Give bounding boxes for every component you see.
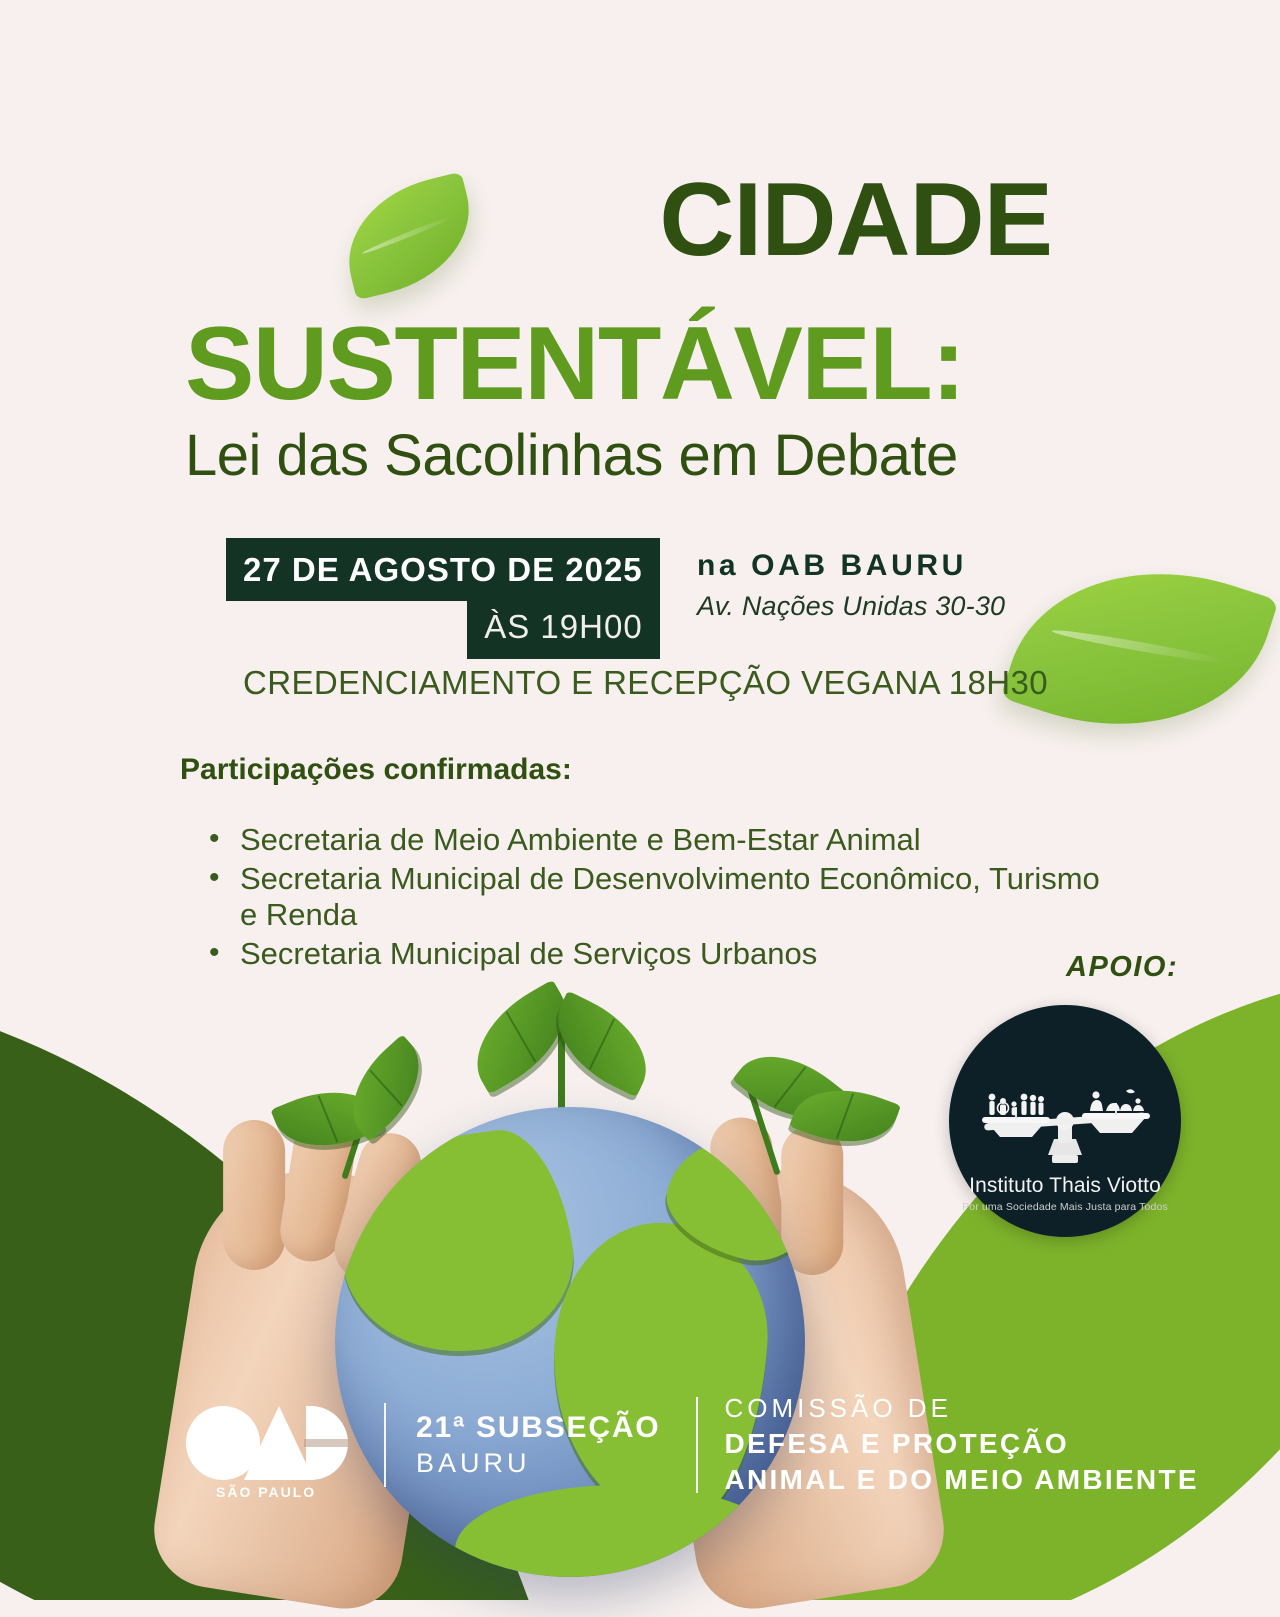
footer-divider-2 xyxy=(696,1397,698,1493)
event-time: ÀS 19H00 xyxy=(467,601,659,659)
footer-divider-1 xyxy=(384,1403,386,1487)
hands-holding-globe-illustration xyxy=(170,985,970,1600)
commission-line-3: ANIMAL E DO MEIO AMBIENTE xyxy=(724,1462,1198,1498)
commission-block: COMISSÃO DE DEFESA E PROTEÇÃO ANIMAL E D… xyxy=(724,1392,1198,1499)
credentialing-note: CREDENCIAMENTO E RECEPÇÃO VEGANA 18H30 xyxy=(243,664,1048,702)
list-item: Secretaria Municipal de Desenvolvimento … xyxy=(205,861,1125,934)
event-venue-block: na OAB BAURU Av. Nações Unidas 30-30 xyxy=(697,549,1005,622)
list-item: Secretaria de Meio Ambiente e Bem-Estar … xyxy=(205,822,1125,859)
oab-logo-subtitle: SÃO PAULO xyxy=(216,1484,316,1500)
commission-line-2: DEFESA E PROTEÇÃO xyxy=(724,1426,1198,1462)
floating-leaf-right-icon xyxy=(1000,528,1279,770)
venue-address: Av. Nações Unidas 30-30 xyxy=(697,591,1005,622)
event-date: 27 DE AGOSTO DE 2025 xyxy=(226,538,660,601)
title-line-1: CIDADE xyxy=(0,168,1052,272)
instituto-thais-viotto-logo: Instituto Thais Viotto Por uma Sociedade… xyxy=(949,1005,1181,1237)
title-line-2: SUSTENTÁVEL: xyxy=(185,312,1065,416)
balance-scale-icon xyxy=(970,1077,1160,1173)
subsection-number: 21ª SUBSEÇÃO xyxy=(416,1409,660,1447)
participants-list: Secretaria de Meio Ambiente e Bem-Estar … xyxy=(205,822,1125,974)
commission-line-1: COMISSÃO DE xyxy=(724,1392,1198,1426)
institute-name: Instituto Thais Viotto xyxy=(969,1175,1161,1196)
oab-logo-icon: SÃO PAULO xyxy=(186,1390,338,1500)
participants-heading: Participações confirmadas: xyxy=(180,753,572,787)
footer-bar: SÃO PAULO 21ª SUBSEÇÃO BAURU COMISSÃO DE… xyxy=(186,1385,1199,1505)
list-item: Secretaria Municipal de Serviços Urbanos xyxy=(205,936,1125,973)
poster-subtitle: Lei das Sacolinhas em Debate xyxy=(185,426,1145,487)
oab-subsection-block: 21ª SUBSEÇÃO BAURU xyxy=(416,1409,660,1482)
subsection-city: BAURU xyxy=(416,1446,660,1481)
institute-tagline: Por uma Sociedade Mais Justa para Todos xyxy=(962,1201,1168,1213)
globe-icon xyxy=(335,1107,805,1577)
venue-name: na OAB BAURU xyxy=(697,549,1005,583)
event-date-block: 27 DE AGOSTO DE 2025 ÀS 19H00 xyxy=(226,538,660,659)
support-label: APOIO: xyxy=(1066,951,1178,984)
